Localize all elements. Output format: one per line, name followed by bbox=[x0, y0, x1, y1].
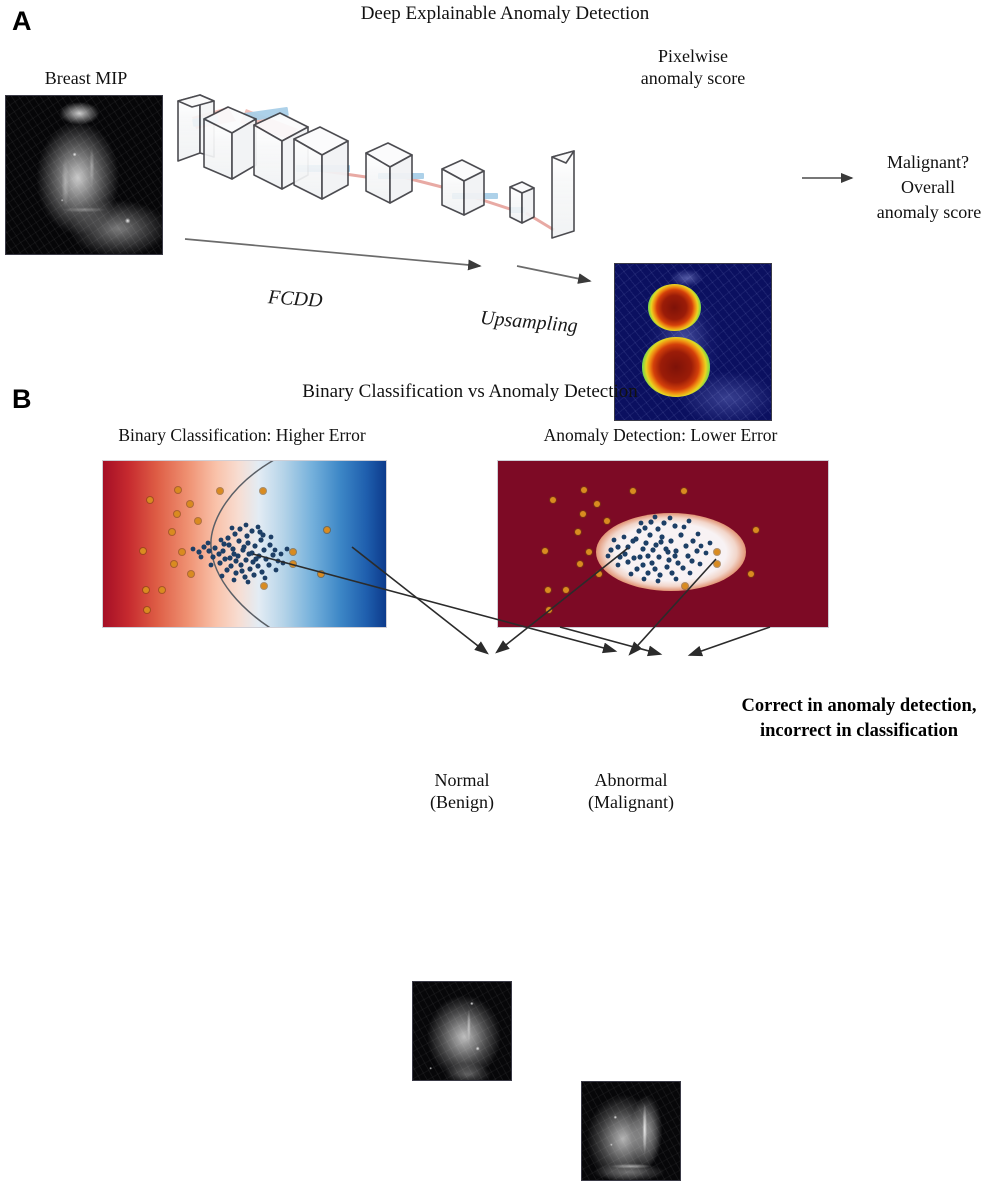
normal-texture-layer bbox=[413, 982, 511, 1080]
breast-mip-image bbox=[5, 95, 163, 255]
left-plot-title: Binary Classification: Higher Error bbox=[92, 425, 392, 447]
abnormal-label-line1: Abnormal bbox=[561, 770, 701, 792]
result-line-3: anomaly score bbox=[858, 202, 1000, 224]
breast-mip-label: Breast MIP bbox=[16, 68, 156, 90]
normal-breast-image bbox=[412, 981, 512, 1081]
result-arrow bbox=[800, 168, 860, 188]
panel-letter-a: A bbox=[12, 8, 32, 35]
conclusion-note-line2: incorrect in classification bbox=[718, 719, 1000, 743]
abnormal-label-line2: (Malignant) bbox=[561, 792, 701, 814]
pipeline-arrows bbox=[180, 235, 600, 295]
plot-to-image-connectors bbox=[0, 455, 1000, 685]
pixelwise-anomaly-label-line1: Pixelwise bbox=[618, 46, 768, 68]
panel-a-title: Deep Explainable Anomaly Detection bbox=[255, 3, 755, 26]
normal-label-line1: Normal bbox=[392, 770, 532, 792]
heatmap-hotspot-upper bbox=[648, 284, 701, 331]
panel-letter-b: B bbox=[12, 386, 32, 413]
mip-texture-layer bbox=[6, 96, 162, 254]
result-line-1: Malignant? bbox=[858, 152, 998, 174]
pixelwise-anomaly-label-line2: anomaly score bbox=[608, 68, 778, 90]
normal-label-line2: (Benign) bbox=[392, 792, 532, 814]
result-line-2: Overall bbox=[858, 177, 998, 199]
abnormal-breast-image bbox=[581, 1081, 681, 1181]
cnn-architecture-diagram bbox=[170, 95, 590, 255]
abnormal-texture-layer bbox=[582, 1082, 680, 1180]
upsampling-arrow-label: Upsampling bbox=[479, 307, 578, 338]
conclusion-note-line1: Correct in anomaly detection, bbox=[718, 694, 1000, 718]
fcdd-arrow-label: FCDD bbox=[267, 286, 323, 313]
panel-b-title: Binary Classification vs Anomaly Detecti… bbox=[230, 381, 710, 404]
right-plot-title: Anomaly Detection: Lower Error bbox=[498, 425, 823, 447]
